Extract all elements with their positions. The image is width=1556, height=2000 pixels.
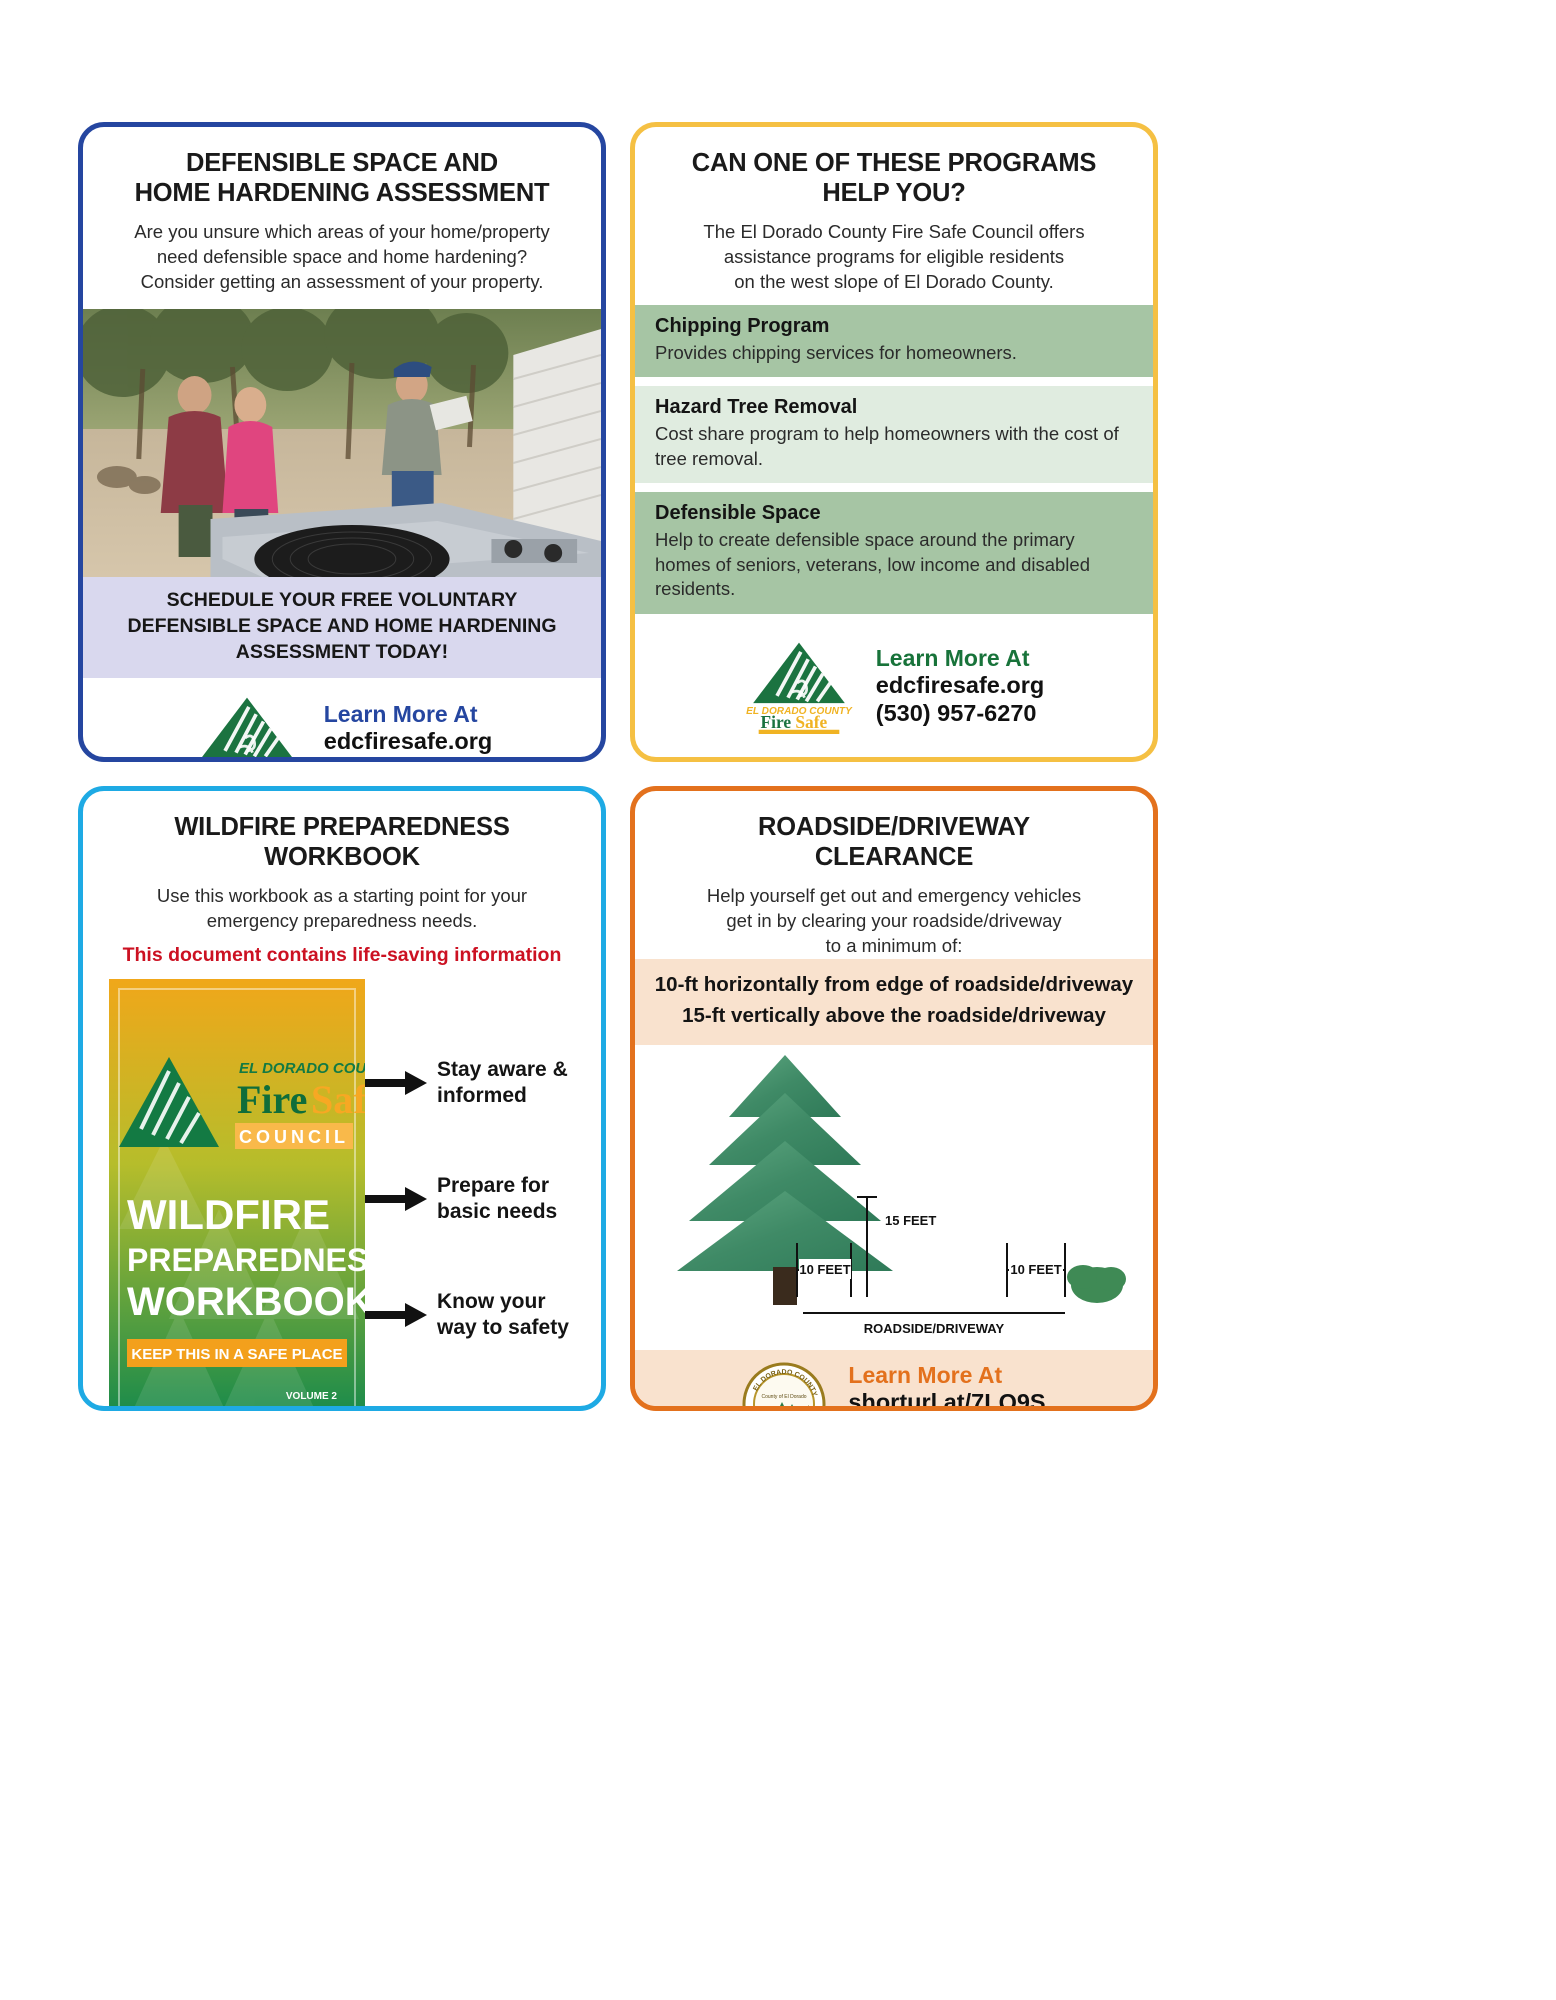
assessment-title-line1: DEFENSIBLE SPACE AND bbox=[186, 149, 498, 177]
program-name: Chipping Program bbox=[655, 315, 1133, 338]
programs-contact: EL DORADO COUNTY Fire Safe Learn More At… bbox=[635, 623, 1153, 734]
programs-contact-info: Learn More At edcfiresafe.org (530) 957-… bbox=[876, 645, 1044, 728]
cover-brand-safe: Safe bbox=[311, 1077, 365, 1122]
program-description: Cost share program to help homeowners wi… bbox=[655, 422, 1133, 471]
roadside-url[interactable]: shorturl.at/7LQ9S bbox=[848, 1389, 1045, 1411]
roadside-title-line1: ROADSIDE/DRIVEWAY bbox=[758, 813, 1030, 841]
programs-learn-more-label: Learn More At bbox=[876, 645, 1044, 672]
programs-intro-line1: The El Dorado County Fire Safe Council o… bbox=[665, 220, 1123, 245]
programs-list: Chipping Program Provides chipping servi… bbox=[635, 295, 1153, 613]
program-name: Defensible Space bbox=[655, 502, 1133, 525]
benefit-line1: Prepare for bbox=[437, 1173, 557, 1199]
fire-safe-council-logo-icon: EL DORADO COUNTY Fire Safe bbox=[744, 639, 854, 734]
programs-title-line1: CAN ONE OF THESE PROGRAMS bbox=[692, 149, 1096, 177]
roadside-intro-line1: Help yourself get out and emergency vehi… bbox=[665, 884, 1123, 909]
diagram-road-label: ROADSIDE/DRIVEWAY bbox=[864, 1321, 1005, 1336]
assessment-phone[interactable]: (530) 647-1700 bbox=[324, 755, 492, 762]
programs-url[interactable]: edcfiresafe.org bbox=[876, 672, 1044, 700]
diagram-center-label: 15 FEET bbox=[885, 1213, 936, 1228]
benefit-line2: basic needs bbox=[437, 1199, 557, 1225]
roadside-contact-info: Learn More At shorturl.at/7LQ9S (530) 62… bbox=[848, 1362, 1045, 1411]
assessment-banner-line3: ASSESSMENT TODAY! bbox=[109, 640, 575, 666]
workbook-title-line2: WORKBOOK bbox=[109, 843, 575, 873]
workbook-intro: Use this workbook as a starting point fo… bbox=[83, 872, 601, 934]
roadside-title: ROADSIDE/DRIVEWAY CLEARANCE bbox=[635, 791, 1153, 872]
seal-mid-text: County of El Dorado bbox=[762, 1394, 807, 1400]
cover-volume: VOLUME 2 bbox=[286, 1391, 338, 1402]
arrow-right-icon bbox=[365, 1070, 427, 1096]
diagram-left-label: 10 FEET bbox=[799, 1262, 850, 1277]
card-grid: DEFENSIBLE SPACE AND HOME HARDENING ASSE… bbox=[78, 122, 1158, 1411]
assessment-contact: EL DORADO COUNTY Fire Safe Learn More At… bbox=[83, 678, 601, 762]
benefit-label: Stay aware & informed bbox=[437, 1057, 568, 1108]
diagram-right-label: 10 FEET bbox=[1010, 1262, 1061, 1277]
benefit-line2: informed bbox=[437, 1083, 568, 1109]
assessment-learn-more-label: Learn More At bbox=[324, 701, 492, 728]
workbook-benefits: Stay aware & informed Prepare for basic … bbox=[365, 979, 575, 1411]
assessment-intro-line3: Consider getting an assessment of your p… bbox=[113, 270, 571, 295]
programs-title: CAN ONE OF THESE PROGRAMS HELP YOU? bbox=[635, 127, 1153, 208]
workbook-title-line1: WILDFIRE PREPAREDNESS bbox=[174, 813, 509, 841]
assessment-intro-line1: Are you unsure which areas of your home/… bbox=[113, 220, 571, 245]
roadside-intro-line3: to a minimum of: bbox=[665, 934, 1123, 959]
assessment-contact-info: Learn More At edcfiresafe.org (530) 647-… bbox=[324, 701, 492, 762]
roadside-footer: EL DORADO COUNTY County of El Dorado bbox=[635, 1350, 1153, 1411]
programs-intro: The El Dorado County Fire Safe Council o… bbox=[635, 208, 1153, 295]
benefit-item: Know your way to safety bbox=[365, 1289, 575, 1340]
card-roadside-driveway-clearance: ROADSIDE/DRIVEWAY CLEARANCE Help yoursel… bbox=[630, 786, 1158, 1411]
cover-strip: KEEP THIS IN A SAFE PLACE bbox=[131, 1346, 342, 1363]
programs-intro-line3: on the west slope of El Dorado County. bbox=[665, 270, 1123, 295]
arrow-right-icon bbox=[365, 1302, 427, 1328]
assessment-banner-line1: SCHEDULE YOUR FREE VOLUNTARY bbox=[109, 588, 575, 614]
cover-brand-top: EL DORADO COUNTY bbox=[239, 1060, 365, 1077]
roadside-contact: EL DORADO COUNTY County of El Dorado bbox=[635, 1362, 1153, 1411]
programs-phone[interactable]: (530) 957-6270 bbox=[876, 700, 1044, 728]
roadside-intro-line2: get in by clearing your roadside/drivewa… bbox=[665, 909, 1123, 934]
program-description: Help to create defensible space around t… bbox=[655, 528, 1133, 601]
assessment-title-line2: HOME HARDENING ASSESSMENT bbox=[109, 179, 575, 209]
assessment-photo bbox=[83, 309, 601, 577]
workbook-warning: This document contains life-saving infor… bbox=[83, 934, 601, 967]
assessment-intro-line2: need defensible space and home hardening… bbox=[113, 245, 571, 270]
cover-title-2: PREPAREDNESS bbox=[127, 1242, 365, 1278]
flyer-page: DEFENSIBLE SPACE AND HOME HARDENING ASSE… bbox=[0, 0, 1556, 2000]
cover-title-3: WORKBOOK bbox=[127, 1280, 365, 1324]
program-description: Provides chipping services for homeowner… bbox=[655, 341, 1133, 365]
logo-county-text: EL DORADO COUNTY bbox=[194, 761, 301, 762]
roadside-measurements: 10-ft horizontally from edge of roadside… bbox=[635, 959, 1153, 1045]
svg-text:Fire: Fire bbox=[760, 711, 791, 731]
roadside-measure-line2: 15-ft vertically above the roadside/driv… bbox=[653, 1001, 1135, 1032]
svg-text:Safe: Safe bbox=[795, 711, 827, 731]
workbook-intro-line2: emergency preparedness needs. bbox=[113, 909, 571, 934]
programs-intro-line2: assistance programs for eligible residen… bbox=[665, 245, 1123, 270]
roadside-clearance-diagram: 10 FEET 15 FEET 10 FEET ROADS bbox=[635, 1045, 1153, 1350]
cover-brand-fire: Fire bbox=[237, 1077, 307, 1122]
card-assistance-programs: CAN ONE OF THESE PROGRAMS HELP YOU? The … bbox=[630, 122, 1158, 762]
cover-title-1: WILDFIRE bbox=[127, 1191, 330, 1238]
benefit-line2: way to safety bbox=[437, 1315, 569, 1341]
cover-brand-council: COUNCIL bbox=[239, 1127, 349, 1147]
card-wildfire-preparedness-workbook: WILDFIRE PREPAREDNESS WORKBOOK Use this … bbox=[78, 786, 606, 1411]
programs-title-line2: HELP YOU? bbox=[661, 179, 1127, 209]
assessment-banner-line2: DEFENSIBLE SPACE AND HOME HARDENING bbox=[109, 614, 575, 640]
benefit-label: Prepare for basic needs bbox=[437, 1173, 557, 1224]
benefit-line1: Stay aware & bbox=[437, 1057, 568, 1083]
arrow-right-icon bbox=[365, 1186, 427, 1212]
assessment-title: DEFENSIBLE SPACE AND HOME HARDENING ASSE… bbox=[83, 127, 601, 208]
fire-safe-council-logo-icon: EL DORADO COUNTY Fire Safe bbox=[192, 694, 302, 762]
program-row-chipping[interactable]: Chipping Program Provides chipping servi… bbox=[635, 305, 1153, 377]
workbook-intro-line1: Use this workbook as a starting point fo… bbox=[113, 884, 571, 909]
benefit-item: Stay aware & informed bbox=[365, 1057, 575, 1108]
program-row-hazard-tree-removal[interactable]: Hazard Tree Removal Cost share program t… bbox=[635, 386, 1153, 483]
benefit-item: Prepare for basic needs bbox=[365, 1173, 575, 1224]
el-dorado-county-seal-icon: EL DORADO COUNTY County of El Dorado bbox=[742, 1362, 826, 1411]
program-row-defensible-space[interactable]: Defensible Space Help to create defensib… bbox=[635, 492, 1153, 613]
roadside-intro: Help yourself get out and emergency vehi… bbox=[635, 872, 1153, 959]
roadside-title-line2: CLEARANCE bbox=[661, 843, 1127, 873]
benefit-line1: Know your bbox=[437, 1289, 569, 1315]
workbook-visual-row: EL DORADO COUNTY Fire Safe COUNCIL WILDF… bbox=[83, 967, 601, 1411]
workbook-title: WILDFIRE PREPAREDNESS WORKBOOK bbox=[83, 791, 601, 872]
roadside-measure-line1: 10-ft horizontally from edge of roadside… bbox=[653, 970, 1135, 1001]
assessment-url[interactable]: edcfiresafe.org bbox=[324, 728, 492, 756]
roadside-learn-more-label: Learn More At bbox=[848, 1362, 1045, 1389]
assessment-banner: SCHEDULE YOUR FREE VOLUNTARY DEFENSIBLE … bbox=[83, 577, 601, 678]
card-defensible-space-assessment: DEFENSIBLE SPACE AND HOME HARDENING ASSE… bbox=[78, 122, 606, 762]
benefit-label: Know your way to safety bbox=[437, 1289, 569, 1340]
program-name: Hazard Tree Removal bbox=[655, 396, 1133, 419]
assessment-intro: Are you unsure which areas of your home/… bbox=[83, 208, 601, 295]
workbook-cover-image: EL DORADO COUNTY Fire Safe COUNCIL WILDF… bbox=[109, 979, 365, 1411]
